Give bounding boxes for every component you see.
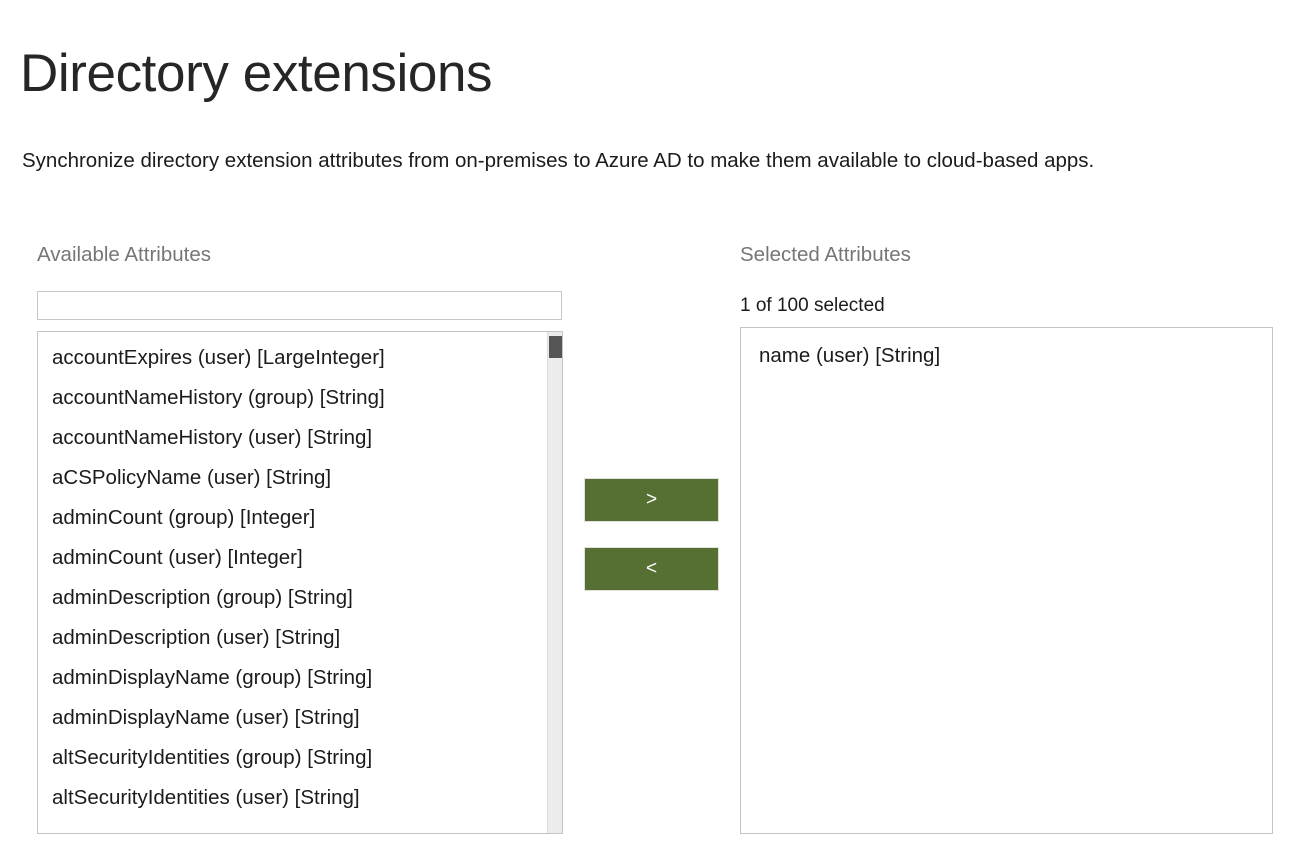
selected-list-items: name (user) [String]	[741, 328, 1272, 376]
available-attribute-list-item[interactable]: aCSPolicyName (user) [String]	[38, 458, 562, 498]
available-attribute-list-item[interactable]: altSecurityIdentities (group) [String]	[38, 738, 562, 778]
available-list-scroll-area: accountExpires (user) [LargeInteger]acco…	[38, 332, 562, 833]
page-title: Directory extensions	[20, 42, 492, 106]
page-description: Synchronize directory extension attribut…	[22, 145, 1267, 176]
selected-attributes-label: Selected Attributes	[740, 243, 911, 267]
selected-count-text: 1 of 100 selected	[740, 295, 885, 317]
move-right-button[interactable]: >	[584, 478, 719, 522]
selected-list-scroll-area: name (user) [String]	[741, 328, 1272, 833]
selected-attributes-listbox[interactable]: name (user) [String]	[740, 327, 1273, 834]
available-attribute-list-item[interactable]: adminDisplayName (group) [String]	[38, 658, 562, 698]
available-list-items: accountExpires (user) [LargeInteger]acco…	[38, 332, 562, 818]
available-attribute-list-item[interactable]: adminDisplayName (user) [String]	[38, 698, 562, 738]
available-attribute-list-item[interactable]: accountNameHistory (user) [String]	[38, 418, 562, 458]
available-attributes-label: Available Attributes	[37, 243, 211, 267]
selected-attribute-list-item[interactable]: name (user) [String]	[741, 336, 1272, 376]
available-attribute-list-item[interactable]: adminCount (user) [Integer]	[38, 538, 562, 578]
available-attribute-list-item[interactable]: altSecurityIdentities (user) [String]	[38, 778, 562, 818]
scrollbar-thumb[interactable]	[549, 336, 562, 358]
available-attributes-listbox[interactable]: accountExpires (user) [LargeInteger]acco…	[37, 331, 563, 834]
available-attribute-list-item[interactable]: adminDescription (user) [String]	[38, 618, 562, 658]
available-attribute-list-item[interactable]: adminCount (group) [Integer]	[38, 498, 562, 538]
available-attribute-list-item[interactable]: accountExpires (user) [LargeInteger]	[38, 338, 562, 378]
move-left-button[interactable]: <	[584, 547, 719, 591]
available-attribute-list-item[interactable]: accountNameHistory (group) [String]	[38, 378, 562, 418]
available-attribute-list-item[interactable]: adminDescription (group) [String]	[38, 578, 562, 618]
available-list-scrollbar[interactable]	[547, 332, 562, 833]
attribute-filter-input[interactable]	[37, 291, 562, 320]
